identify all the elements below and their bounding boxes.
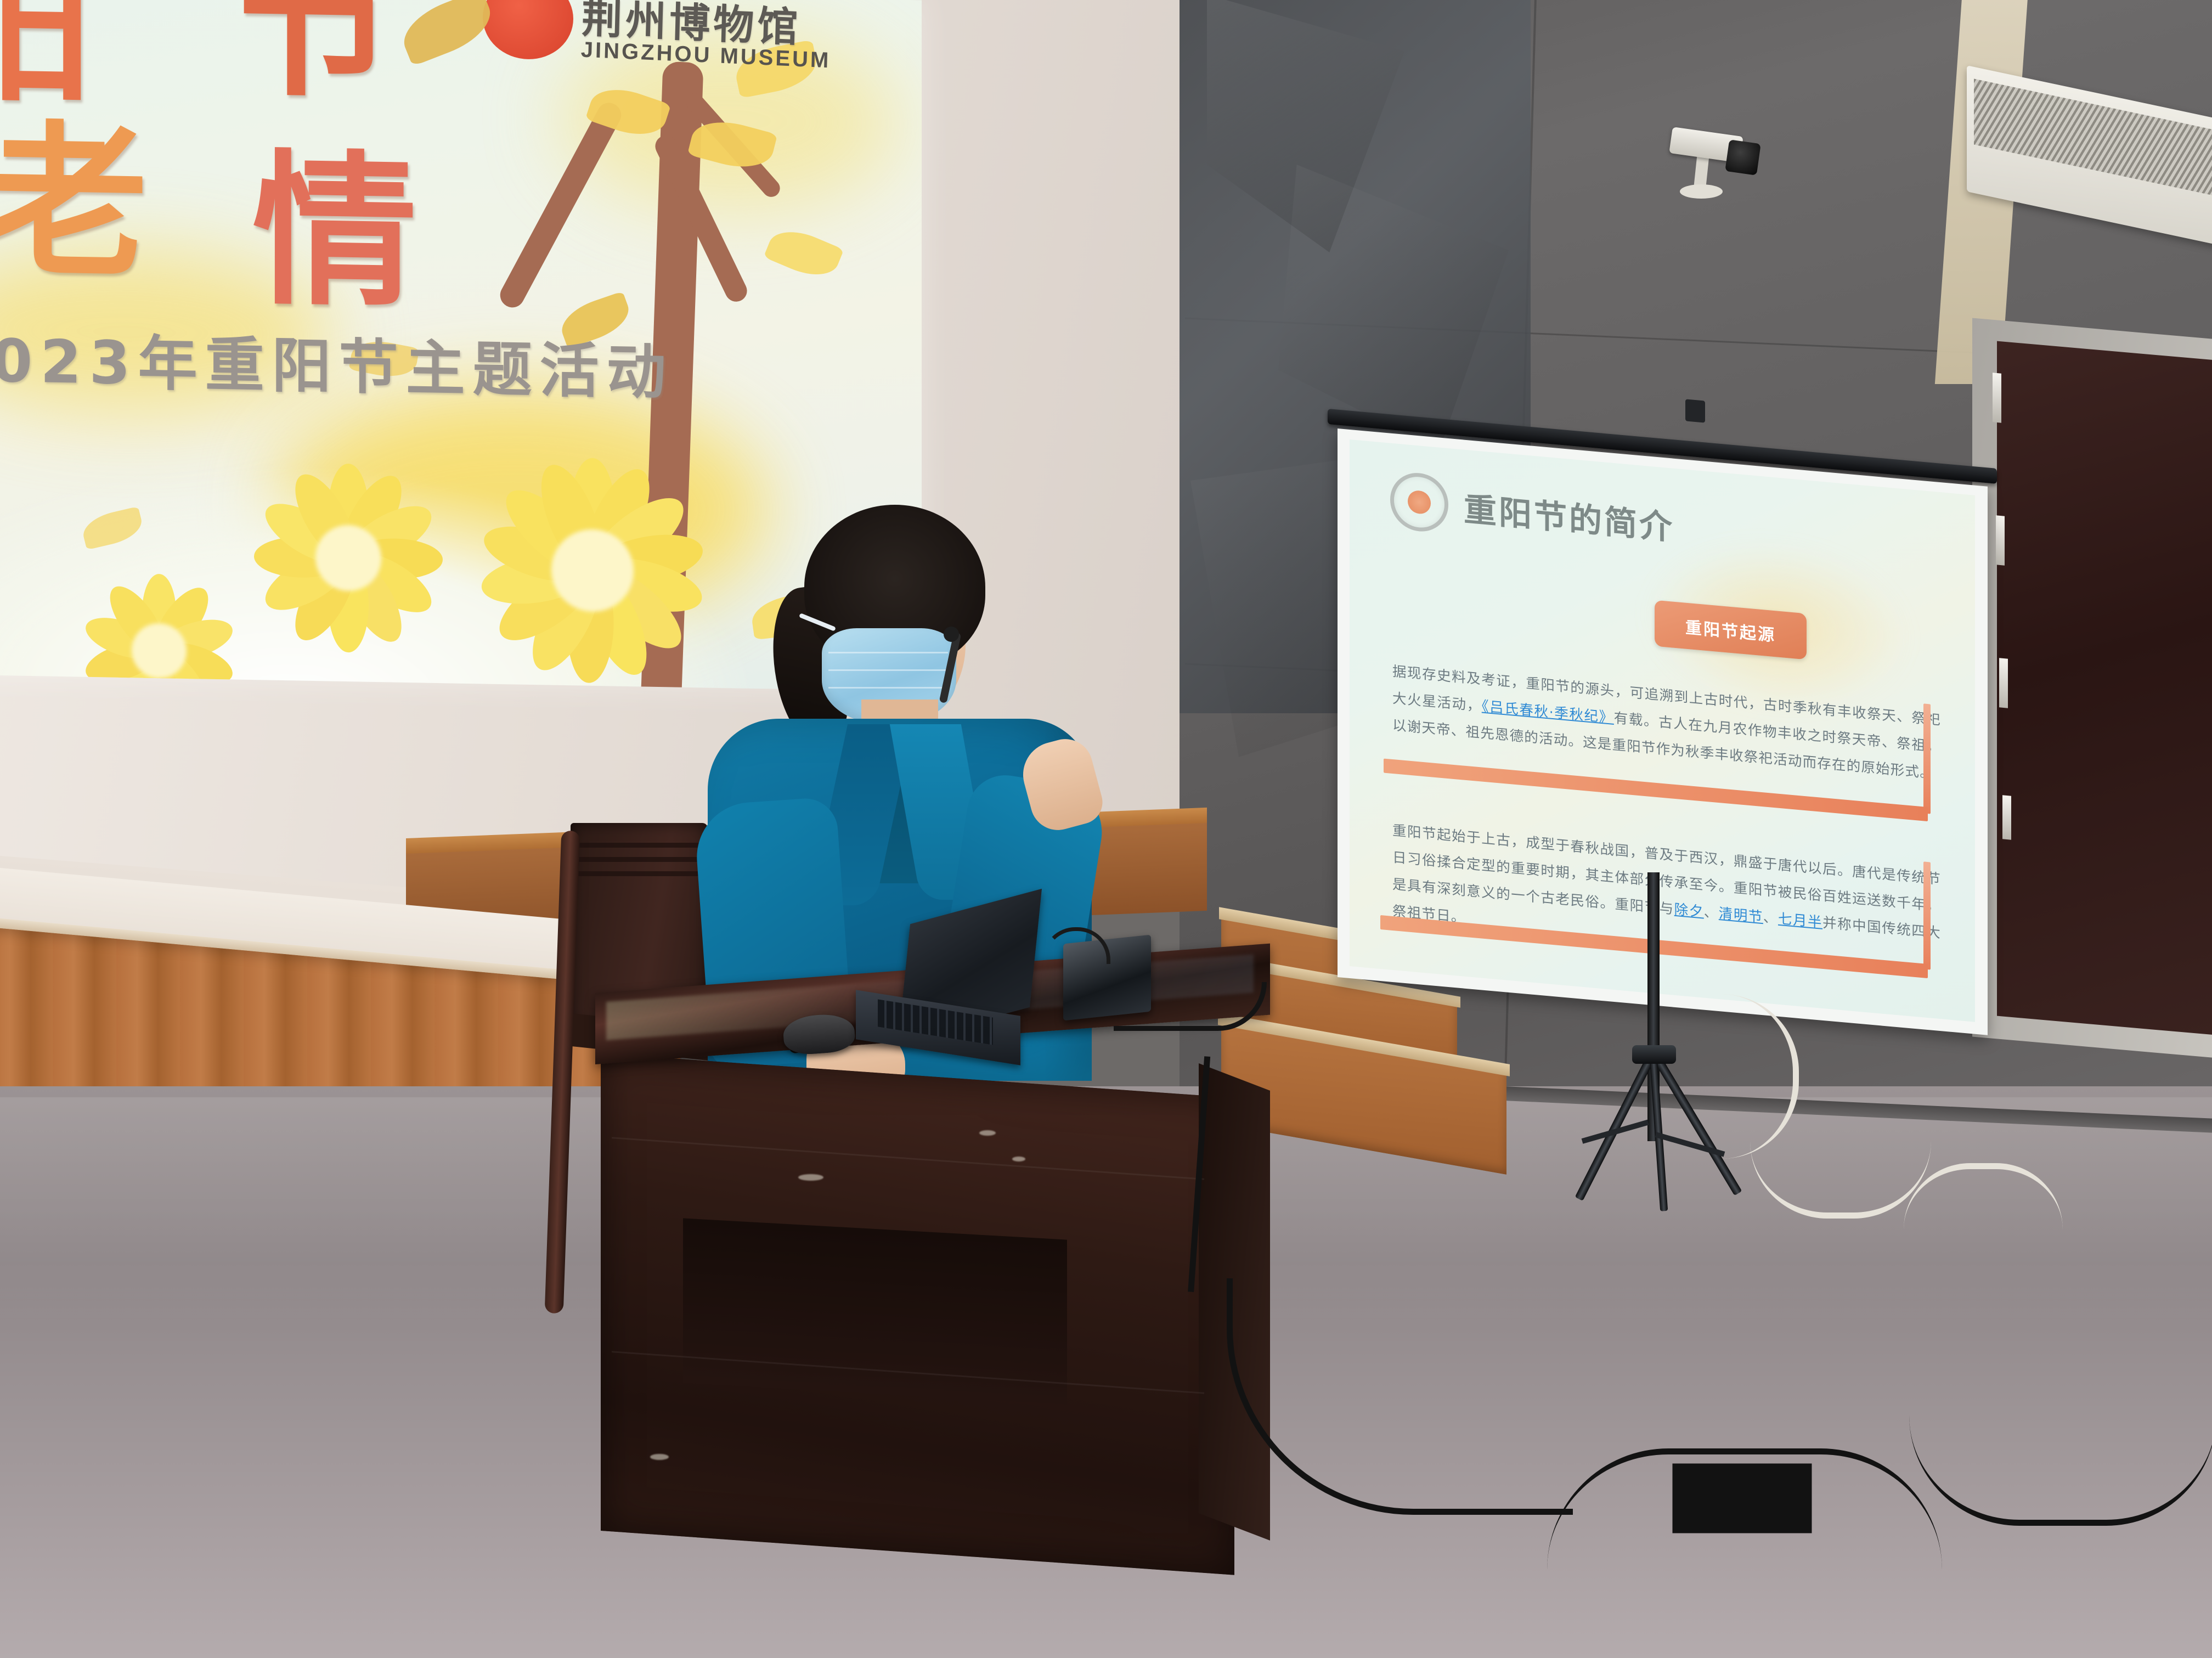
link-chuxi[interactable]: 除夕	[1674, 901, 1704, 921]
chrysanthemum	[66, 556, 252, 691]
projection-subtitle: 2023年重阳节主题活动	[0, 312, 674, 410]
security-camera-lens-icon	[1725, 139, 1761, 176]
security-camera-base	[1680, 184, 1723, 199]
link-qiyueban[interactable]: 七月半	[1778, 911, 1822, 931]
paragraph-origin-link[interactable]: 《吕氏春秋·季秋纪》	[1482, 698, 1614, 726]
tripod-hub	[1632, 1045, 1676, 1064]
calligraphy-char-1: 阳	[0, 0, 94, 112]
seal-inner-icon	[1408, 489, 1431, 515]
power-cable-black	[1547, 1448, 1942, 1570]
screen-hook	[1685, 399, 1705, 422]
persimmon-fruit	[483, 0, 573, 60]
desk-scuff	[1012, 1157, 1025, 1161]
mask-fold	[828, 669, 948, 671]
calligraphy-char-2: 节	[230, 0, 396, 106]
lecture-hall-photo: 阳 节 老 情 2023年重阳节主题活动 荆州博物馆 JINGZHOU MUSE…	[0, 0, 2212, 1658]
power-cable-black	[1188, 1056, 1287, 1297]
door[interactable]	[1997, 341, 2212, 1036]
museum-seal-icon	[1390, 471, 1448, 534]
desk-scuff	[979, 1130, 996, 1136]
portable-projection-screen: 重阳节的简介 重阳节起源 据现存史料及考证，重阳节的源头，可追溯到上古时代，古时…	[1317, 409, 2008, 1018]
headset-microphone-icon	[944, 627, 959, 642]
falling-leaf	[764, 222, 844, 285]
paragraph-accent-right	[1923, 861, 1931, 969]
desk-scuff	[650, 1454, 669, 1460]
mask-fold	[828, 687, 948, 689]
desk-scuff	[798, 1174, 823, 1181]
tree-branch	[496, 99, 625, 312]
calligraphy-char-3: 老	[0, 119, 149, 286]
presenter-desk[interactable]	[595, 993, 1270, 1618]
link-qingmingjie[interactable]: 清明节	[1719, 905, 1763, 926]
calligraphy-char-4: 情	[252, 148, 418, 315]
chrysanthemum	[230, 438, 466, 678]
paragraph-accent-right	[1923, 703, 1931, 814]
desk-knee-recess	[683, 1218, 1067, 1404]
slide-header: 重阳节的简介	[1390, 471, 1674, 554]
mask-fold	[828, 652, 948, 653]
chair-leg	[545, 831, 580, 1314]
falling-leaf	[395, 0, 499, 66]
slide-content: 重阳节的简介 重阳节起源 据现存史料及考证，重阳节的源头，可追溯到上古时代，古时…	[1350, 439, 1975, 1022]
slide-title: 重阳节的简介	[1464, 482, 1674, 549]
museum-logo: 荆州博物馆 JINGZHOU MUSEUM	[580, 0, 832, 73]
